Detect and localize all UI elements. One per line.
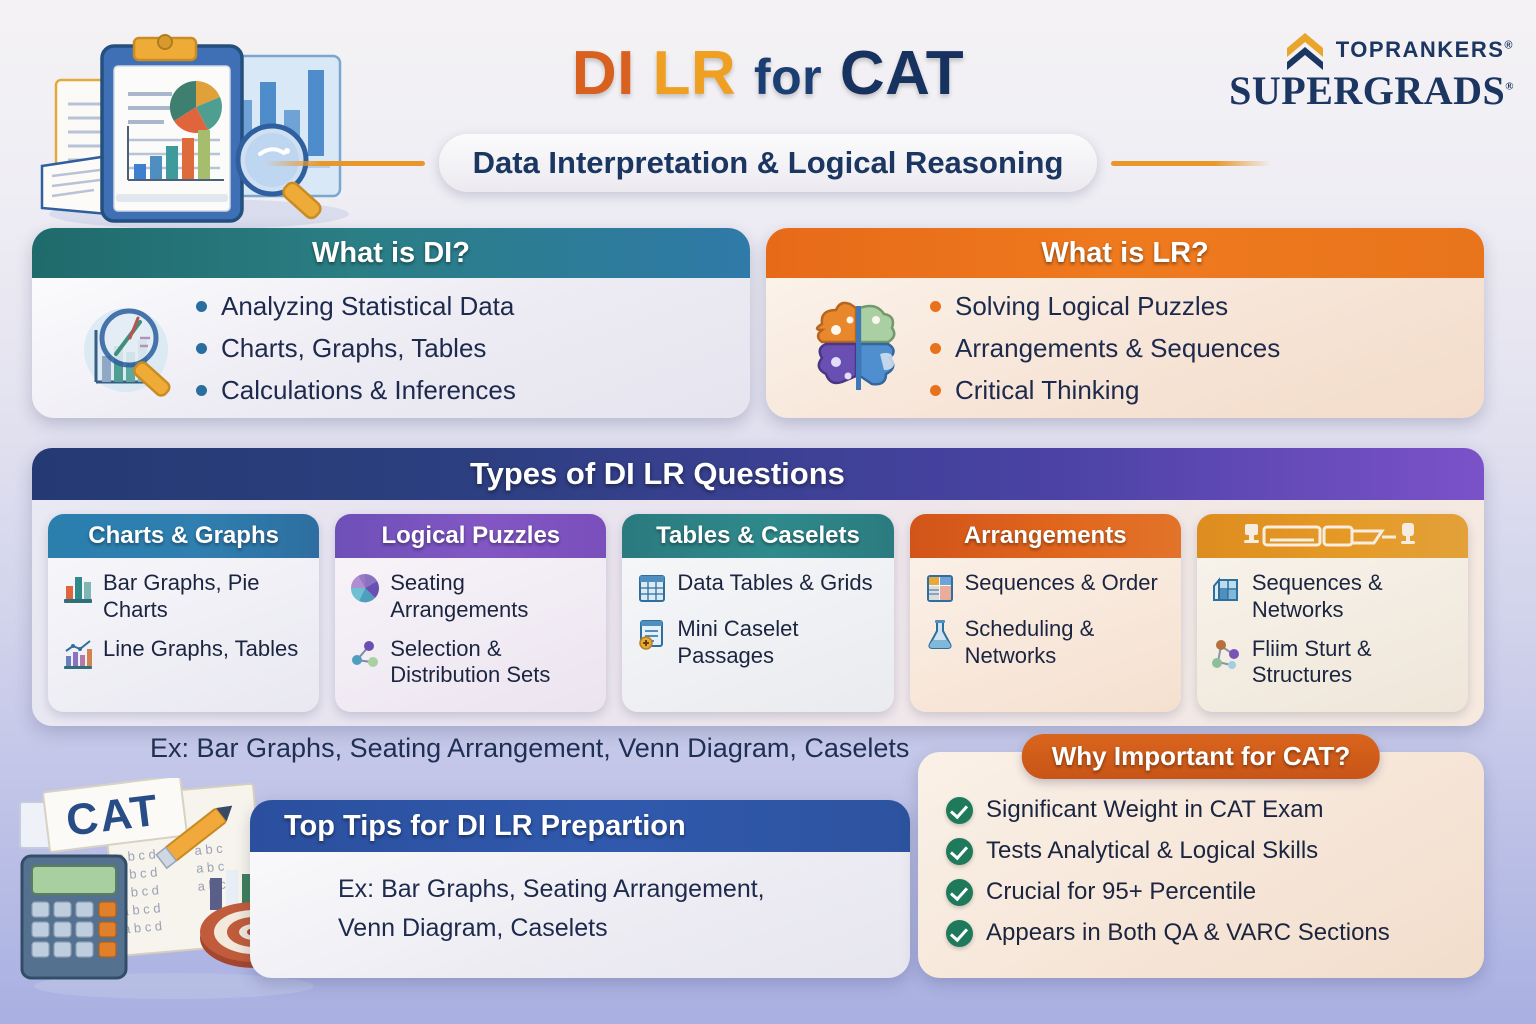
rule-right <box>1111 161 1271 166</box>
top-tips-card: Top Tips for DI LR Prepartion Ex: Bar Gr… <box>250 800 910 978</box>
type-card-title <box>1197 514 1468 558</box>
type-item-text: Sequences & Order <box>965 570 1158 597</box>
check-icon <box>946 838 973 865</box>
di-bullet-1: Charts, Graphs, Tables <box>221 333 486 364</box>
subtitle: Data Interpretation & Logical Reasoning <box>439 134 1098 192</box>
network-nodes-icon <box>349 638 381 670</box>
type-item-text: Mini Caselet Passages <box>677 616 881 670</box>
list-item: Selection & Distribution Sets <box>349 636 594 690</box>
why-item-3: Appears in Both QA & VARC Sections <box>986 919 1390 947</box>
list-item: Tests Analytical & Logical Skills <box>946 837 1484 865</box>
type-card-arrangements[interactable]: Arrangements Sequences & Order <box>910 514 1181 712</box>
type-item-text: Bar Graphs, Pie Charts <box>103 570 307 624</box>
list-item: Solving Logical Puzzles <box>930 291 1280 322</box>
why-item-1: Tests Analytical & Logical Skills <box>986 837 1318 865</box>
title-lr: LR <box>653 39 737 108</box>
bullet-dot <box>930 301 941 312</box>
type-card-charts-graphs[interactable]: Charts & Graphs Bar Graphs, Pie Charts <box>48 514 319 712</box>
type-card-tables-caselets[interactable]: Tables & Caselets Data Tables & Grids <box>622 514 893 712</box>
list-item: Calculations & Inferences <box>196 375 516 406</box>
title-di: DI <box>572 39 635 108</box>
logo-toprankers: TOPRANKERS® <box>1336 37 1514 63</box>
pie-chart-icon <box>349 572 381 604</box>
types-card-row: Charts & Graphs Bar Graphs, Pie Charts <box>32 500 1484 726</box>
tips-heading: Top Tips for DI LR Prepartion <box>250 800 910 852</box>
why-list: Significant Weight in CAT Exam Tests Ana… <box>918 752 1484 947</box>
type-item-text: Data Tables & Grids <box>677 570 872 597</box>
bullet-dot <box>930 385 941 396</box>
check-icon <box>946 879 973 906</box>
type-card-title: Charts & Graphs <box>48 514 319 558</box>
list-item: Mini Caselet Passages <box>636 616 881 670</box>
bullet-dot <box>196 343 207 354</box>
check-icon <box>946 797 973 824</box>
title-cat: CAT <box>840 39 964 108</box>
cube-grid-icon <box>1211 572 1243 604</box>
type-item-text: Fliim Sturt & Structures <box>1252 636 1456 690</box>
types-of-questions-section: Types of DI LR Questions Charts & Graphs… <box>32 448 1484 726</box>
list-item: Line Graphs, Tables <box>62 636 307 670</box>
bar-chart-icon <box>62 572 94 604</box>
bullet-dot <box>196 385 207 396</box>
types-banner: Types of DI LR Questions <box>32 448 1484 500</box>
chevron-logo-icon <box>1283 30 1327 70</box>
type-card-networks[interactable]: Sequences & Networks Fliim Sturt & <box>1197 514 1468 712</box>
di-bullet-list: Analyzing Statistical Data Charts, Graph… <box>196 291 516 406</box>
why-important-card: Why Important for CAT? Significant Weigh… <box>918 752 1484 978</box>
list-item: Crucial for 95+ Percentile <box>946 878 1484 906</box>
type-item-text: Selection & Distribution Sets <box>390 636 594 690</box>
lr-bullet-2: Critical Thinking <box>955 375 1139 406</box>
list-item: Sequences & Networks <box>1211 570 1456 624</box>
magnifier-bar-chart-icon <box>72 294 180 402</box>
brand-logo[interactable]: TOPRANKERS® SUPERGRADS® <box>1229 30 1514 112</box>
flask-icon <box>924 618 956 650</box>
list-item: Data Tables & Grids <box>636 570 881 604</box>
type-card-title: Arrangements <box>910 514 1181 558</box>
type-item-text: Scheduling & Networks <box>965 616 1169 670</box>
types-example-line: Ex: Bar Graphs, Seating Arrangement, Ven… <box>150 733 909 764</box>
list-item: Appears in Both QA & VARC Sections <box>946 919 1484 947</box>
lr-card-heading: What is LR? <box>766 228 1484 278</box>
garbled-shapes-icon <box>1242 518 1422 554</box>
list-item: Fliim Sturt & Structures <box>1211 636 1456 690</box>
subtitle-row: Data Interpretation & Logical Reasoning <box>0 134 1536 192</box>
node-graph-icon <box>1211 638 1243 670</box>
bullet-dot <box>196 301 207 312</box>
tips-line-2: Venn Diagram, Caselets <box>338 909 910 948</box>
what-is-di-card: What is DI? Analyzing Statistical Da <box>32 228 750 418</box>
type-card-logical-puzzles[interactable]: Logical Puzzles <box>335 514 606 712</box>
type-card-title: Logical Puzzles <box>335 514 606 558</box>
why-item-2: Crucial for 95+ Percentile <box>986 878 1256 906</box>
type-card-title: Tables & Caselets <box>622 514 893 558</box>
di-bullet-2: Calculations & Inferences <box>221 375 516 406</box>
di-card-heading: What is DI? <box>32 228 750 278</box>
list-item: Bar Graphs, Pie Charts <box>62 570 307 624</box>
list-item: Analyzing Statistical Data <box>196 291 516 322</box>
what-is-lr-card: What is LR? Solving Logical Puzzles <box>766 228 1484 418</box>
list-item: Significant Weight in CAT Exam <box>946 796 1484 824</box>
list-item: Scheduling & Networks <box>924 616 1169 670</box>
title-for: for <box>754 49 822 105</box>
line-chart-icon <box>62 638 94 670</box>
rule-left <box>265 161 425 166</box>
di-bullet-0: Analyzing Statistical Data <box>221 291 514 322</box>
check-icon <box>946 920 973 947</box>
why-item-0: Significant Weight in CAT Exam <box>986 796 1323 824</box>
list-item: Arrangements & Sequences <box>930 333 1280 364</box>
svg-text:a b c: a b c <box>195 858 225 875</box>
tips-line-1: Ex: Bar Graphs, Seating Arrangement, <box>338 870 910 909</box>
bullet-dot <box>930 343 941 354</box>
list-item: Sequences & Order <box>924 570 1169 604</box>
type-item-text: Line Graphs, Tables <box>103 636 298 663</box>
list-item: Critical Thinking <box>930 375 1280 406</box>
infographic-canvas: DI LR for CAT Data Interpretation & Logi… <box>0 0 1536 1024</box>
types-banner-title: Types of DI LR Questions <box>470 456 845 492</box>
list-item: Charts, Graphs, Tables <box>196 333 516 364</box>
puzzle-brain-icon <box>806 294 914 402</box>
why-important-pill: Why Important for CAT? <box>1022 734 1380 779</box>
logo-supergrads: SUPERGRADS® <box>1229 70 1514 112</box>
lr-bullet-list: Solving Logical Puzzles Arrangements & S… <box>930 291 1280 406</box>
list-item: Seating Arrangements <box>349 570 594 624</box>
type-item-text: Sequences & Networks <box>1252 570 1456 624</box>
table-grid-icon <box>636 572 668 604</box>
lr-bullet-1: Arrangements & Sequences <box>955 333 1280 364</box>
type-item-text: Seating Arrangements <box>390 570 594 624</box>
grid-layout-icon <box>924 572 956 604</box>
lr-bullet-0: Solving Logical Puzzles <box>955 291 1228 322</box>
document-plus-icon <box>636 618 668 650</box>
